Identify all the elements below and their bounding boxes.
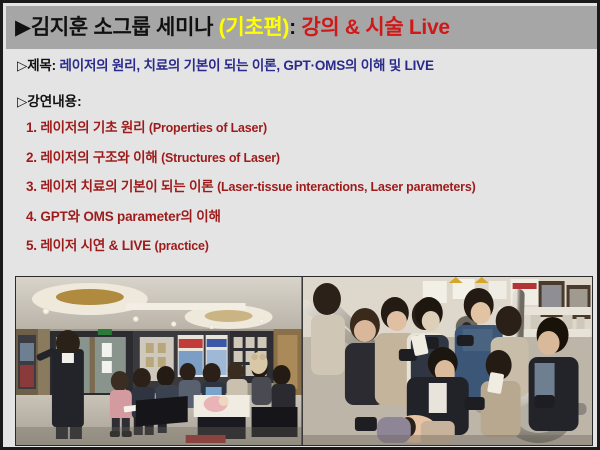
presentation-slide: ▶김지훈 소그룹 세미나 (기초편): 강의 & 시술 Live ▷제목: 레이… [0,0,600,450]
list-item-number: 5. [26,238,37,253]
list-item-english: (practice) [155,239,209,253]
list-item: 1. 레이저의 기초 원리 (Properties of Laser) [26,121,594,135]
laser-live-demo-photo [302,277,593,445]
list-item-english: (Properties of Laser) [149,121,267,135]
title-accent-text: 강의 & 시술 Live [301,16,449,39]
slide-title: ▶김지훈 소그룹 세미나 (기초편): 강의 & 시술 Live [6,17,450,38]
list-item-number: 4. [26,209,37,224]
list-item-number: 1. [26,120,37,135]
section-heading-label: 강연내용: [27,94,81,109]
list-item: 4. GPT와 OMS parameter의 이해 [26,210,594,224]
list-item-number: 2. [26,150,37,165]
list-item-korean: 레이저의 구조와 이해 [40,150,157,165]
list-item-korean: GPT와 OMS parameter의 이해 [40,209,220,224]
seminar-lecture-photo [16,277,302,445]
list-item: 5. 레이저 시연 & LIVE (practice) [26,239,594,253]
list-item-korean: 레이저 시연 & LIVE [40,238,151,253]
title-bullet-marker-icon: ▶ [15,16,31,39]
photo-strip [15,276,593,446]
subtitle-text: 레이저의 원리, 치료의 기본이 되는 이론, GPT·OMS의 이해 및 LI… [60,58,434,73]
list-item: 3. 레이저 치료의 기본이 되는 이론 (Laser-tissue inter… [26,180,594,194]
section-heading-row: ▷강연내용: [17,95,82,109]
title-highlight-text: (기초편) [219,16,289,39]
slide-title-band: ▶김지훈 소그룹 세미나 (기초편): 강의 & 시술 Live [6,6,600,49]
list-item: 2. 레이저의 구조와 이해 (Structures of Laser) [26,151,594,165]
list-item-korean: 레이저 치료의 기본이 되는 이론 [40,179,213,194]
list-item-english: (Structures of Laser) [161,151,280,165]
title-colon: : [289,16,296,39]
subtitle-marker-icon: ▷ [17,58,27,73]
section-marker-icon: ▷ [17,94,27,109]
slide-body: ▷제목: 레이저의 원리, 치료의 기본이 되는 이론, GPT·OMS의 이해… [6,49,600,450]
subtitle-row: ▷제목: 레이저의 원리, 치료의 기본이 되는 이론, GPT·OMS의 이해… [17,59,434,73]
title-main-text: 김지훈 소그룹 세미나 [31,16,213,39]
subtitle-label: 제목: [27,58,56,73]
list-item-korean: 레이저의 기초 원리 [40,120,145,135]
list-item-number: 3. [26,179,37,194]
list-item-english: (Laser-tissue interactions, Laser parame… [217,180,475,194]
lecture-content-list: 1. 레이저의 기초 원리 (Properties of Laser) 2. 레… [26,121,594,269]
